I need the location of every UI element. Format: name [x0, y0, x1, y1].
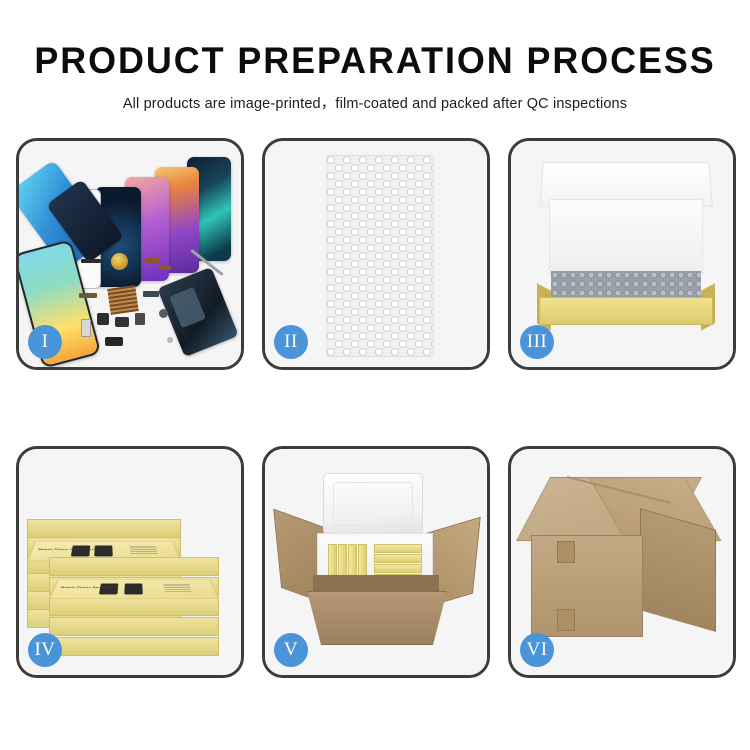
part-buzzer-icon — [115, 317, 129, 327]
process-step-panel-1: I — [16, 138, 244, 370]
step-badge-2: II — [274, 325, 308, 359]
part-module-icon — [105, 337, 123, 346]
header: PRODUCT PREPARATION PROCESS All products… — [0, 0, 750, 113]
grey-bubble-wrap-layer-icon — [551, 271, 701, 297]
stacked-box-front-1 — [49, 557, 219, 576]
part-connector-2-icon — [159, 265, 171, 270]
box-label-front: Mobile Phone Spare Parts — [60, 586, 118, 588]
step-badge-5: V — [274, 633, 308, 667]
speaker-module-icon — [111, 253, 128, 270]
process-step-panel-4: Mobile Phone Spare Parts Mobile Phone Sp… — [16, 446, 244, 678]
box-print-text-block-rear — [130, 546, 158, 554]
box-print-swatch-b — [94, 545, 113, 556]
part-small-screw-icon — [167, 337, 173, 343]
stacked-box-rear-1 — [27, 519, 181, 538]
process-step-panel-6: VI — [508, 446, 736, 678]
inner-box-horizontal-3 — [374, 564, 422, 573]
page-title: PRODUCT PREPARATION PROCESS — [11, 0, 739, 79]
part-connector-icon — [145, 257, 159, 263]
part-camera-icon — [97, 313, 109, 325]
part-strip-icon — [81, 259, 101, 263]
shipping-carton-front-icon — [531, 535, 643, 637]
box-print-swatch-d — [124, 583, 143, 594]
shipping-carton-side-icon — [640, 508, 716, 632]
foam-cooler-lid-icon — [323, 473, 423, 535]
process-step-panel-5: V — [262, 446, 490, 678]
carton-body-icon — [307, 591, 447, 645]
box-print-swatch-a — [71, 545, 90, 556]
bubble-wrap-bag-icon — [326, 155, 434, 357]
process-step-panel-3: III — [508, 138, 736, 370]
inner-box-horizontal-2 — [374, 554, 422, 563]
part-sim-tray-icon — [81, 319, 91, 337]
stacked-box-front-3 — [49, 597, 219, 616]
part-ribbon-icon — [79, 293, 97, 298]
step-badge-3: III — [520, 325, 554, 359]
inner-box-horizontal-1 — [374, 544, 422, 553]
logic-board-icon — [107, 285, 138, 315]
part-screw-icon — [159, 309, 168, 318]
part-flex-cable-icon — [143, 291, 159, 297]
step-badge-6: VI — [520, 633, 554, 667]
step-badge-4: IV — [28, 633, 62, 667]
phone-opened-back-icon — [157, 267, 238, 357]
step-badge-1: I — [28, 325, 62, 359]
process-step-panel-2: II — [262, 138, 490, 370]
process-step-grid: I II — [16, 138, 736, 678]
product-preparation-process-infographic: PRODUCT PREPARATION PROCESS All products… — [0, 0, 750, 750]
box-print-swatch-c — [99, 583, 119, 594]
white-foam-sheet-icon — [549, 199, 703, 275]
yellow-box-front-icon — [539, 297, 713, 325]
carton-tab-lower-icon — [557, 609, 575, 631]
carton-tab-upper-icon — [557, 541, 575, 563]
stacked-box-front-lid: Mobile Phone Spare Parts — [49, 579, 219, 599]
box-label-rear: Mobile Phone Spare Parts — [38, 548, 96, 550]
stacked-box-front-5 — [49, 637, 219, 656]
box-print-text-block-front — [163, 584, 191, 592]
bubble-texture-icon — [327, 156, 433, 356]
stacked-box-front-4 — [49, 617, 219, 636]
part-vibrator-icon — [135, 313, 145, 325]
page-subtitle: All products are image-printed，film-coat… — [0, 79, 750, 113]
